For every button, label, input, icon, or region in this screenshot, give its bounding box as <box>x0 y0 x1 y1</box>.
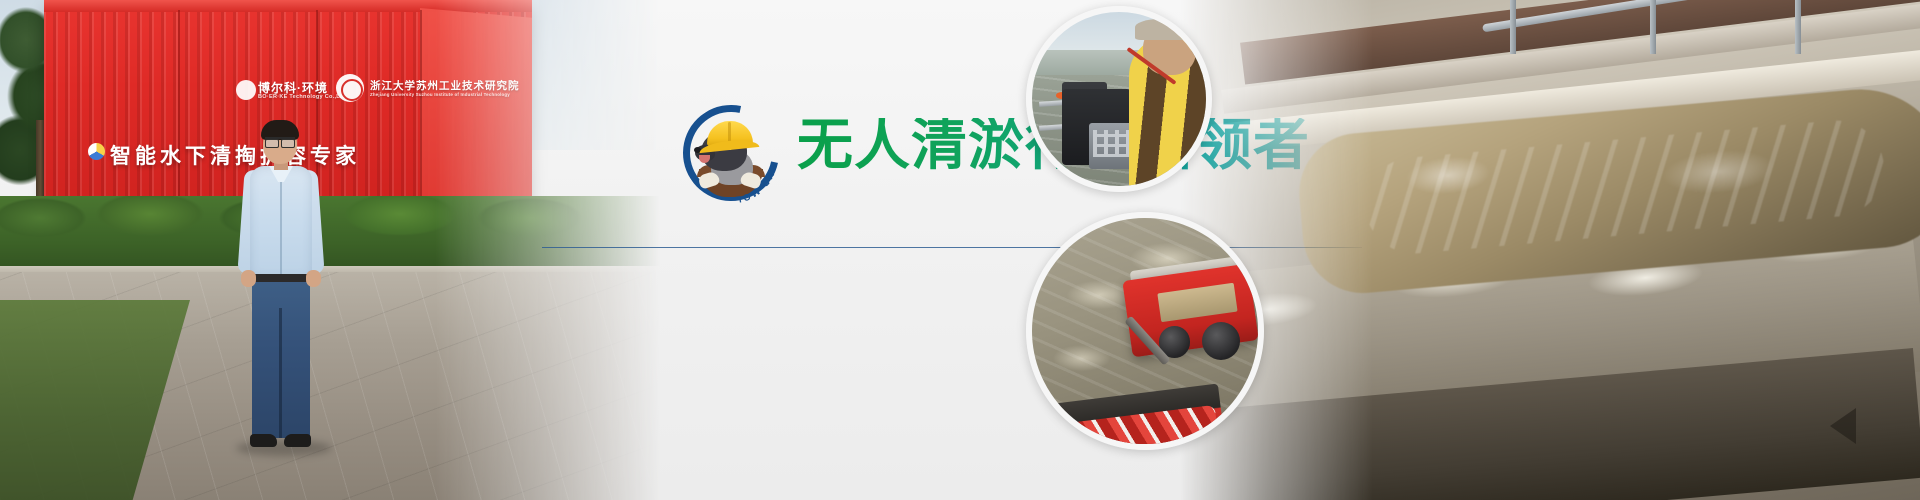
glasses-icon <box>265 137 295 144</box>
robot-photo-inner <box>1032 218 1258 444</box>
figure-belt <box>252 274 310 282</box>
figure-hand-right <box>306 270 321 287</box>
boerke-logo-icon <box>236 80 256 100</box>
logo-arc-text: MUD MOLE <box>679 97 779 205</box>
university-seal-icon <box>336 74 364 102</box>
handrail-post <box>1510 0 1516 54</box>
logo-arc-textpath: MUD MOLE <box>679 97 779 205</box>
operator-photo-inner <box>1032 12 1206 186</box>
control-panel-buttons <box>1089 123 1134 168</box>
container-partner-en: Zhejiang University Suzhou Institute of … <box>370 92 510 97</box>
handrail-post <box>1650 0 1656 54</box>
logo-arc-text-svg: MUD MOLE <box>683 105 779 201</box>
slogan-bullet-icon <box>88 143 105 160</box>
figure-shoe-left <box>250 434 277 447</box>
container-partner-cn: 浙江大学苏州工业技术研究院 <box>370 78 520 93</box>
arrow-icon <box>1830 408 1856 444</box>
container-roof-edge <box>44 0 532 12</box>
figure-shirt-placket <box>280 174 282 274</box>
container-brand-en: BO·ER·KE Technology Co.,Ltd. <box>258 94 348 100</box>
container-side-face <box>420 8 532 218</box>
mud-mole-logo: MUD MOLE <box>683 105 779 201</box>
figure-hand-left <box>241 270 256 287</box>
figure-shoe-right <box>284 434 311 447</box>
operator-cap <box>1135 19 1198 40</box>
engineer-figure <box>222 110 342 470</box>
dredging-robot-photo <box>1026 212 1264 450</box>
figure-trousers <box>252 280 310 438</box>
container-door-seam <box>178 10 180 205</box>
container-door-seam <box>420 10 422 205</box>
handrail-post <box>1795 0 1801 54</box>
left-photo: 博尔科·环境 BO·ER·KE Technology Co.,Ltd. 浙江大学… <box>0 0 660 500</box>
hero-banner: 博尔科·环境 BO·ER·KE Technology Co.,Ltd. 浙江大学… <box>0 0 1920 500</box>
right-photo-sludge <box>1180 0 1920 500</box>
robot-wheel <box>1202 322 1240 360</box>
operator-remote-control-photo <box>1026 6 1212 192</box>
